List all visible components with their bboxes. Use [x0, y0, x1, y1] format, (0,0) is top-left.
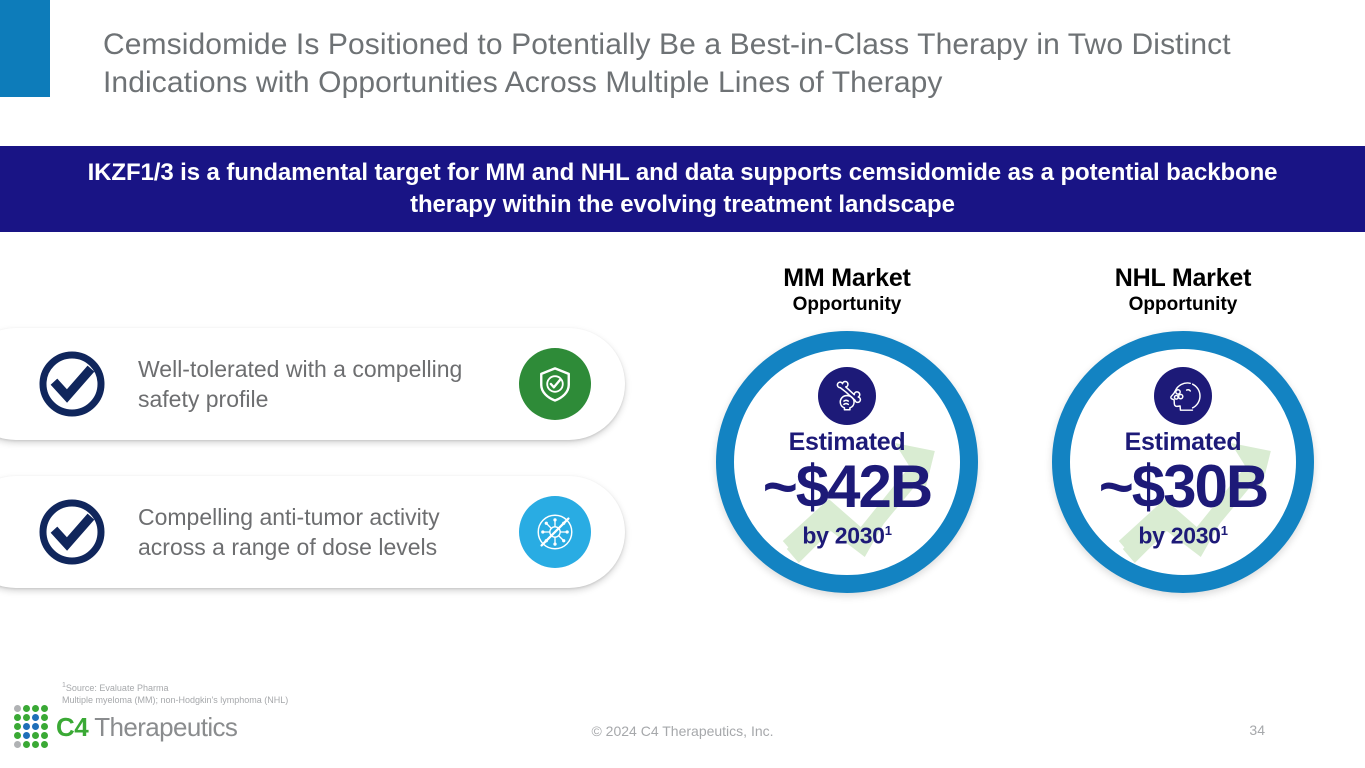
copyright-text: © 2024 C4 Therapeutics, Inc.	[0, 723, 1365, 739]
logo-dot	[23, 741, 30, 748]
logo-dot	[32, 714, 39, 721]
market-circle: Estimated ~$30B by 20301	[1052, 331, 1314, 593]
logo-dot	[23, 714, 30, 721]
footnote-marker: 1	[1221, 523, 1228, 538]
market-year-text: by 2030	[802, 523, 884, 549]
logo-dot	[32, 741, 39, 748]
logo-dot	[41, 714, 48, 721]
market-year: by 20301	[1070, 518, 1296, 549]
market-value: ~$30B	[1070, 456, 1296, 518]
logo-dot	[23, 705, 30, 712]
market-circle: Estimated ~$42B by 20301	[716, 331, 978, 593]
accent-bar	[0, 0, 50, 97]
logo-dot	[14, 705, 21, 712]
feature-card-safety: Well-tolerated with a compelling safety …	[0, 328, 625, 440]
market-value: ~$42B	[734, 456, 960, 518]
footnote-marker: 1	[885, 523, 892, 538]
lymph-node-head-icon	[1154, 367, 1212, 425]
market-year: by 20301	[734, 518, 960, 549]
feature-card-label: Compelling anti-tumor activity across a …	[138, 502, 498, 562]
estimated-label: Estimated	[1070, 429, 1296, 456]
footnote-source-text: Source: Evaluate Pharma	[66, 683, 169, 693]
logo-dot	[41, 705, 48, 712]
feature-card-label: Well-tolerated with a compelling safety …	[138, 354, 498, 414]
logo-dot	[14, 741, 21, 748]
logo-dot	[14, 714, 21, 721]
no-tumor-cell-icon	[519, 496, 591, 568]
footnote-source: 1Source: Evaluate Pharma	[62, 680, 288, 694]
bone-marrow-icon	[818, 367, 876, 425]
check-circle-icon	[38, 350, 106, 418]
market-subheading: Opportunity	[697, 293, 997, 317]
market-subheading: Opportunity	[1033, 293, 1333, 317]
market-opportunity-mm: MM Market Opportunity Estimated ~$42B	[697, 264, 997, 593]
page-number: 34	[1249, 722, 1265, 738]
market-heading: NHL Market	[1033, 264, 1333, 292]
page-title: Cemsidomide Is Positioned to Potentially…	[103, 26, 1283, 102]
estimated-label: Estimated	[734, 429, 960, 456]
feature-card-activity: Compelling anti-tumor activity across a …	[0, 476, 625, 588]
check-circle-icon	[38, 498, 106, 566]
market-year-text: by 2030	[1138, 523, 1220, 549]
logo-dot	[32, 705, 39, 712]
shield-check-icon	[519, 348, 591, 420]
key-message-banner: IKZF1/3 is a fundamental target for MM a…	[0, 146, 1365, 232]
market-opportunity-nhl: NHL Market Opportunity	[1033, 264, 1333, 593]
footnotes: 1Source: Evaluate Pharma Multiple myelom…	[62, 680, 288, 706]
key-message-text: IKZF1/3 is a fundamental target for MM a…	[63, 157, 1303, 221]
logo-dot	[41, 741, 48, 748]
market-heading: MM Market	[697, 264, 997, 292]
